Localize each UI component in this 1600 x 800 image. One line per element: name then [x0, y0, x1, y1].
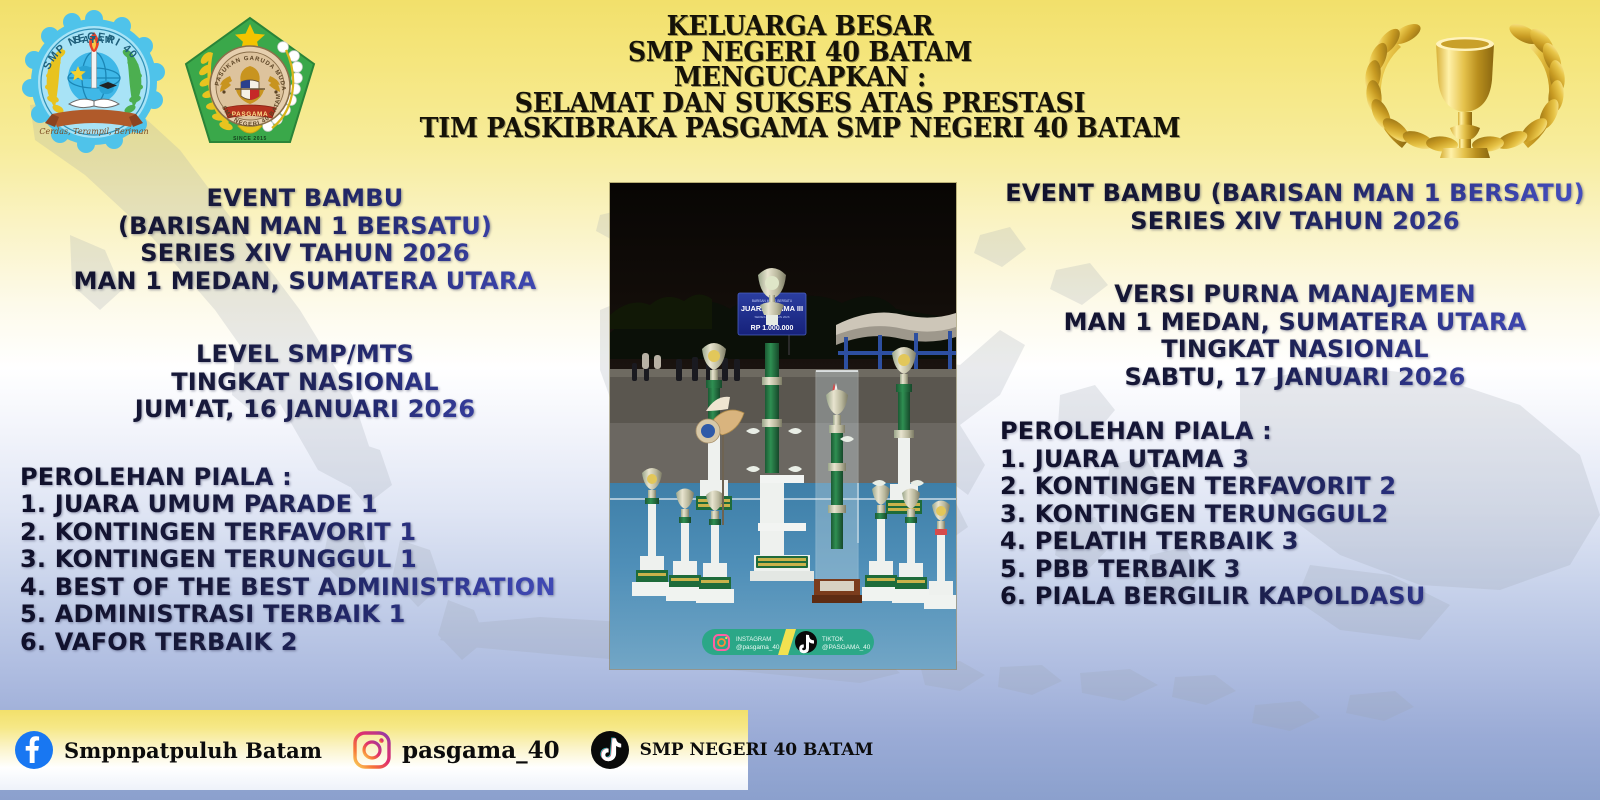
right-award-5: 5. PBB TERBAIK 3	[1000, 556, 1590, 584]
svg-text:INSTAGRAM: INSTAGRAM	[736, 637, 771, 643]
school-logo: SMP NEGERI 40 BATAM Cerdas, Terampil, Be…	[22, 10, 166, 154]
right-level-line-1: VERSI PURNA MANAJEMEN	[1000, 281, 1590, 309]
left-awards-block: PEROLEHAN PIALA : 1. JUARA UMUM PARADE 1…	[20, 464, 590, 657]
svg-text:Cerdas, Terampil, Beriman: Cerdas, Terampil, Beriman	[39, 127, 148, 136]
poster-root: SMP NEGERI 40 BATAM Cerdas, Terampil, Be…	[0, 0, 1600, 800]
left-level-line-2: TINGKAT NASIONAL	[20, 369, 590, 397]
left-spacer-2	[20, 424, 590, 464]
right-awards-block: PEROLEHAN PIALA : 1. JUARA UTAMA 3 2. KO…	[1000, 418, 1590, 611]
right-spacer-1	[1000, 235, 1590, 281]
right-award-3: 3. KONTINGEN TERUNGGUL2	[1000, 501, 1590, 529]
right-level-line-2: MAN 1 MEDAN, SUMATERA UTARA	[1000, 309, 1590, 337]
left-level-line-1: LEVEL SMP/MTS	[20, 341, 590, 369]
instagram-label: pasgama_40	[402, 737, 560, 764]
left-award-4: 4. BEST OF THE BEST ADMINISTRATION	[20, 574, 590, 602]
right-level-line-4: SABTU, 17 JANUARI 2026	[1000, 364, 1590, 392]
svg-text:@pasgama_40: @pasgama_40	[736, 644, 780, 651]
left-award-6: 6. VAFOR TERBAIK 2	[20, 629, 590, 657]
left-award-1: 1. JUARA UMUM PARADE 1	[20, 491, 590, 519]
left-spacer-1	[20, 295, 590, 341]
left-award-5: 5. ADMINISTRASI TERBAIK 1	[20, 601, 590, 629]
svg-text:PASGAMA: PASGAMA	[232, 111, 268, 118]
svg-text:SINCE 2015: SINCE 2015	[233, 136, 267, 142]
left-award-3: 3. KONTINGEN TERUNGGUL 1	[20, 546, 590, 574]
svg-text:BATAM: BATAM	[74, 35, 115, 46]
tiktok-entry[interactable]: SMP NEGERI 40 BATAM	[590, 730, 874, 770]
left-award-2: 2. KONTINGEN TERFAVORIT 1	[20, 519, 590, 547]
right-award-6: 6. PIALA BERGILIR KAPOLDASU	[1000, 583, 1590, 611]
left-level-block: LEVEL SMP/MTS TINGKAT NASIONAL JUM'AT, 1…	[20, 341, 590, 424]
right-spacer-2	[1000, 391, 1590, 418]
right-level-block: VERSI PURNA MANAJEMEN MAN 1 MEDAN, SUMAT…	[1000, 281, 1590, 391]
facebook-label: Smpnpatpuluh Batam	[64, 738, 322, 763]
tiktok-icon	[590, 730, 630, 770]
right-award-2: 2. KONTINGEN TERFAVORIT 2	[1000, 473, 1590, 501]
trophy-photo: BARISAN MAN 1 BERSATU JUARA UTAMA III SE…	[610, 183, 956, 669]
left-event-line-3: SERIES XIV TAHUN 2026	[20, 240, 590, 268]
right-level-line-3: TINGKAT NASIONAL	[1000, 336, 1590, 364]
instagram-icon	[352, 730, 392, 770]
right-event-block: EVENT BAMBU (BARISAN MAN 1 BERSATU) SERI…	[1000, 180, 1590, 235]
left-event-block: EVENT BAMBU (BARISAN MAN 1 BERSATU) SERI…	[20, 185, 590, 295]
page-title: KELUARGA BESAR SMP NEGERI 40 BATAM MENGU…	[386, 14, 1214, 142]
gold-trophy-icon	[1340, 8, 1590, 158]
facebook-entry[interactable]: Smpnpatpuluh Batam	[14, 730, 322, 770]
svg-text:TIKTOK: TIKTOK	[822, 637, 844, 643]
left-event-line-4: MAN 1 MEDAN, SUMATERA UTARA	[20, 268, 590, 296]
left-event-line-1: EVENT BAMBU	[20, 185, 590, 213]
facebook-icon	[14, 730, 54, 770]
right-award-1: 1. JUARA UTAMA 3	[1000, 446, 1590, 474]
right-column: EVENT BAMBU (BARISAN MAN 1 BERSATU) SERI…	[1000, 180, 1590, 611]
right-awards-heading: PEROLEHAN PIALA :	[1000, 418, 1590, 446]
left-awards-heading: PEROLEHAN PIALA :	[20, 464, 590, 492]
pasgama-logo: PASGAMA PASUKAN GARUDA MUDA UTAMA SMP NE…	[180, 14, 320, 156]
svg-text:RP 1.000.000: RP 1.000.000	[751, 325, 794, 332]
right-event-line-2: SERIES XIV TAHUN 2026	[1000, 208, 1590, 236]
svg-text:@PASGAMA_40: @PASGAMA_40	[822, 644, 871, 651]
right-award-4: 4. PELATIH TERBAIK 3	[1000, 528, 1590, 556]
left-column: EVENT BAMBU (BARISAN MAN 1 BERSATU) SERI…	[20, 185, 590, 656]
left-level-line-3: JUM'AT, 16 JANUARI 2026	[20, 396, 590, 424]
social-media-bar: Smpnpatpuluh Batam	[0, 710, 748, 790]
right-event-line-1: EVENT BAMBU (BARISAN MAN 1 BERSATU)	[1000, 180, 1590, 208]
left-event-line-2: (BARISAN MAN 1 BERSATU)	[20, 213, 590, 241]
tiktok-label: SMP NEGERI 40 BATAM	[640, 740, 874, 760]
instagram-entry[interactable]: pasgama_40	[352, 730, 560, 770]
